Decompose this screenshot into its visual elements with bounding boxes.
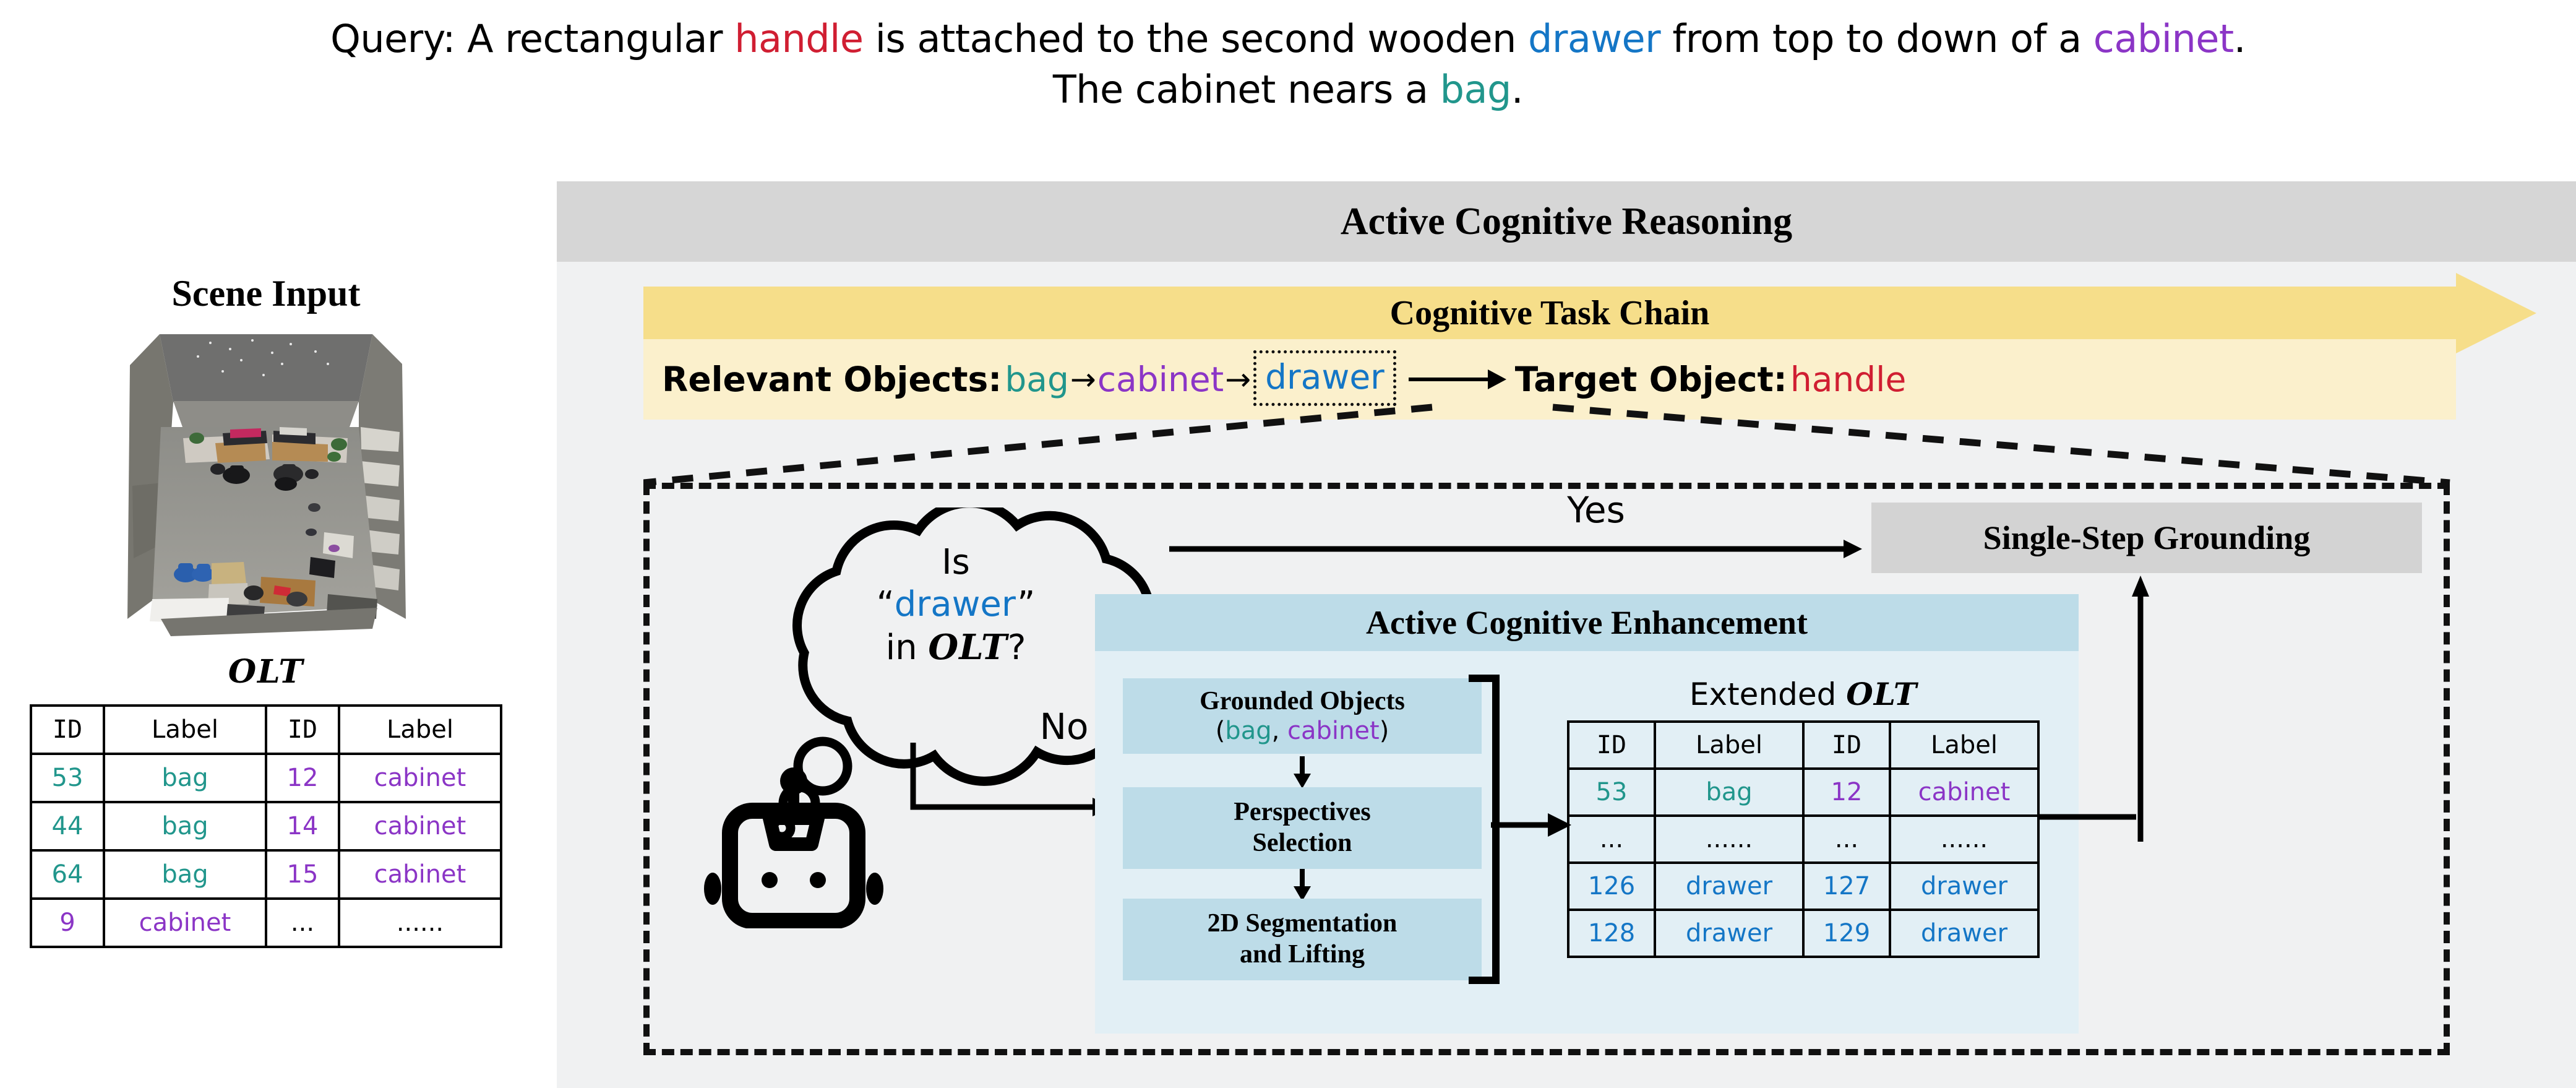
- olt-header-label-2: Label: [339, 706, 501, 754]
- query-word-cabinet: cabinet: [2093, 16, 2234, 61]
- ace-arrow-1-shape: [1292, 756, 1313, 788]
- olt-cell: cabinet: [339, 850, 501, 899]
- bubble-line3-pre: in: [886, 628, 929, 668]
- table-row: 126 drawer 127 drawer: [1568, 863, 2038, 910]
- olt-cell: 9: [31, 899, 104, 947]
- ace-step1-open: (: [1216, 717, 1226, 745]
- extended-olt-table: ID Label ID Label 53 bag 12 cabinet ... …: [1567, 720, 2040, 958]
- ace-step2-line1: Perspectives: [1234, 797, 1371, 828]
- table-row: 53 bag 12 cabinet: [1568, 769, 2038, 816]
- ext-cell: drawer: [1655, 863, 1803, 910]
- olt-cell: cabinet: [339, 754, 501, 802]
- table-row: 44 bag 14 cabinet: [31, 802, 501, 850]
- ext-cell: ...: [1568, 816, 1655, 863]
- olt-cell: cabinet: [104, 899, 266, 947]
- brace-arrow-shape: [1491, 811, 1571, 839]
- bubble-word-drawer: drawer: [895, 584, 1018, 624]
- query-mid2: from top to down of a: [1660, 16, 2093, 61]
- olt-cell: bag: [104, 850, 266, 899]
- ace-step3-line1: 2D Segmentation: [1208, 909, 1397, 939]
- ext-cell: drawer: [1655, 910, 1803, 957]
- ace-arrow-2-icon: [1292, 869, 1313, 901]
- ext-cell: 129: [1803, 910, 1890, 957]
- table-header-row: ID Label ID Label: [1568, 722, 2038, 769]
- panel-header: Active Cognitive Reasoning: [557, 181, 2576, 262]
- bubble-quote-close: ”: [1017, 584, 1035, 624]
- olt-header-label-1: Label: [104, 706, 266, 754]
- query-mid3: .: [2234, 16, 2246, 61]
- table-row: 64 bag 15 cabinet: [31, 850, 501, 899]
- grounding-return-arrow-shape: [2128, 576, 2153, 842]
- ace-step1-comma: ,: [1272, 717, 1287, 745]
- olt-cell: 15: [266, 850, 339, 899]
- olt-header-id-1: ID: [31, 706, 104, 754]
- olt-cell: ...: [266, 899, 339, 947]
- bubble-line1: Is: [942, 542, 970, 582]
- ext-cell: drawer: [1890, 863, 2038, 910]
- ace-step1-bag: bag: [1225, 717, 1271, 745]
- olt-title: OLT: [111, 653, 421, 691]
- ext-cell: ...: [1803, 816, 1890, 863]
- pointcloud-render: [68, 328, 464, 650]
- panel-header-title: Active Cognitive Reasoning: [1341, 200, 1792, 244]
- no-arrow-shape: [909, 743, 1114, 829]
- scene-input-title: Scene Input: [111, 272, 421, 315]
- chain-object-drawer: drawer: [1265, 357, 1385, 397]
- ace-header-title: Active Cognitive Enhancement: [1366, 603, 1808, 642]
- grounding-return-arrow-icon: [2128, 576, 2153, 842]
- ext-cell: ......: [1655, 816, 1803, 863]
- bubble-quote-open: “: [877, 584, 895, 624]
- ace-step1-close: ): [1380, 717, 1389, 745]
- query-word-drawer: drawer: [1528, 16, 1660, 61]
- ext-header-id-2: ID: [1803, 722, 1890, 769]
- relevant-objects-colon: :: [988, 360, 1002, 399]
- brace-to-table-arrow-icon: [1491, 811, 1571, 839]
- ace-arrow-1-icon: [1292, 756, 1313, 788]
- chain-target-handle: handle: [1790, 360, 1906, 399]
- olt-header-id-2: ID: [266, 706, 339, 754]
- olt-cell: cabinet: [339, 802, 501, 850]
- ace-step-grounded-objects[interactable]: Grounded Objects (bag, cabinet): [1123, 678, 1482, 754]
- yes-arrow-shape: [1169, 538, 1862, 559]
- scene-pointcloud-image: [68, 328, 464, 650]
- olt-cell: 12: [266, 754, 339, 802]
- extended-olt-output-line: [2037, 811, 2136, 817]
- olt-cell: ......: [339, 899, 501, 947]
- query-mid1: is attached to the second wooden: [864, 16, 1528, 61]
- ext-cell: 12: [1803, 769, 1890, 816]
- ace-step-perspectives-selection[interactable]: Perspectives Selection: [1123, 787, 1482, 869]
- extended-olt-output-line-shape: [2037, 814, 2136, 820]
- ext-cell: ......: [1890, 816, 2038, 863]
- chain-object-bag: bag: [1005, 360, 1069, 399]
- robot-icon: [704, 767, 883, 928]
- chain-title-band: Cognitive Task Chain: [643, 287, 2456, 339]
- ext-cell: 126: [1568, 863, 1655, 910]
- ace-step1-line1: Grounded Objects: [1200, 686, 1405, 717]
- chain-arrow-tip-icon: [2456, 273, 2536, 353]
- olt-cell: 53: [31, 754, 104, 802]
- single-step-grounding-box[interactable]: Single-Step Grounding: [1871, 503, 2422, 573]
- ace-step2-line2: Selection: [1253, 828, 1352, 859]
- ext-cell: 128: [1568, 910, 1655, 957]
- ace-step3-line2: and Lifting: [1240, 939, 1365, 970]
- ace-step1-objects: (bag, cabinet): [1216, 717, 1389, 746]
- single-step-grounding-label: Single-Step Grounding: [1983, 519, 2311, 557]
- query-line2-prefix: The cabinet nears a: [1053, 67, 1440, 112]
- chain-arrow-1-icon: →: [1069, 361, 1097, 397]
- olt-cell: bag: [104, 754, 266, 802]
- ext-header-label-1: Label: [1655, 722, 1803, 769]
- table-header-row: ID Label ID Label: [31, 706, 501, 754]
- ace-step-2d-segmentation-lifting[interactable]: 2D Segmentation and Lifting: [1123, 899, 1482, 980]
- ext-cell: drawer: [1890, 910, 2038, 957]
- no-arrow-icon: [909, 743, 1114, 829]
- chain-long-arrow-icon: [1409, 369, 1506, 389]
- robot-shape: [704, 767, 883, 928]
- chain-arrow-2-icon: →: [1224, 361, 1252, 397]
- extended-olt-title-olt: OLT: [1846, 676, 1917, 712]
- relevant-objects-label: Relevant Objects: [662, 360, 988, 399]
- olt-cell: 44: [31, 802, 104, 850]
- olt-cell: 14: [266, 802, 339, 850]
- ext-cell: bag: [1655, 769, 1803, 816]
- table-row: 128 drawer 129 drawer: [1568, 910, 2038, 957]
- yes-label: Yes: [1503, 489, 1689, 531]
- ace-step1-cabinet: cabinet: [1287, 717, 1380, 745]
- ext-cell: cabinet: [1890, 769, 2038, 816]
- query-word-bag: bag: [1440, 67, 1511, 112]
- table-row: 9 cabinet ... ......: [31, 899, 501, 947]
- table-row: ... ...... ... ......: [1568, 816, 2038, 863]
- thought-bubble-text: Is “drawer” in OLT?: [764, 542, 1148, 669]
- query-prefix: Query: A rectangular: [330, 16, 734, 61]
- yes-arrow-icon: [1169, 538, 1862, 559]
- ext-cell: 127: [1803, 863, 1890, 910]
- query-text: Query: A rectangular handle is attached …: [0, 14, 2576, 115]
- chain-title: Cognitive Task Chain: [1390, 293, 1710, 333]
- extended-olt-title-pre: Extended: [1689, 676, 1846, 712]
- olt-cell: bag: [104, 802, 266, 850]
- table-row: 53 bag 12 cabinet: [31, 754, 501, 802]
- query-word-handle: handle: [734, 16, 863, 61]
- ext-header-id-1: ID: [1568, 722, 1655, 769]
- target-object-colon: :: [1774, 360, 1787, 399]
- query-line2-suffix: .: [1511, 67, 1523, 112]
- chain-object-cabinet: cabinet: [1097, 360, 1224, 399]
- target-object-label: Target Object: [1515, 360, 1774, 399]
- ext-cell: 53: [1568, 769, 1655, 816]
- bubble-line3-post: ?: [1008, 628, 1026, 668]
- olt-table: ID Label ID Label 53 bag 12 cabinet 44 b…: [30, 704, 502, 948]
- olt-cell: 64: [31, 850, 104, 899]
- ext-header-label-2: Label: [1890, 722, 2038, 769]
- extended-olt-title: Extended OLT: [1559, 676, 2048, 712]
- ace-header: Active Cognitive Enhancement: [1095, 594, 2079, 651]
- bubble-olt: OLT: [928, 627, 1007, 668]
- ace-arrow-2-shape: [1292, 869, 1313, 901]
